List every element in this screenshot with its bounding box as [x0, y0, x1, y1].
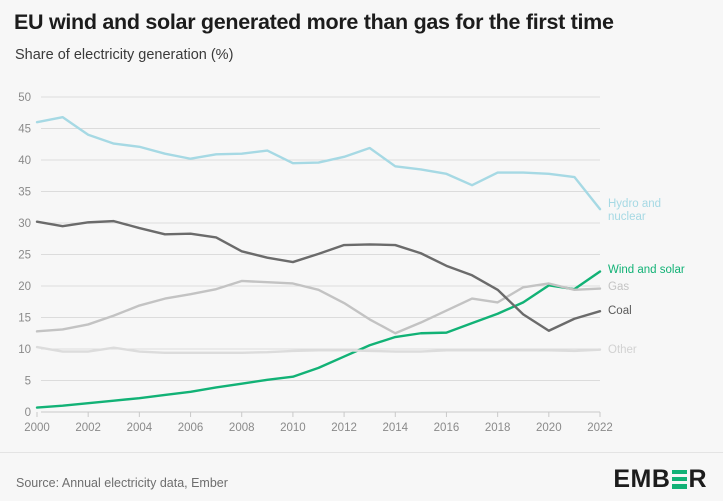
ember-logo-text-after: R — [688, 465, 707, 494]
legend-item-hydro-and-nuclear: Hydro and nuclear — [608, 198, 661, 223]
legend-item-other: Other — [608, 344, 637, 357]
y-axis-tick-labels: 05101520253035404550 — [18, 92, 31, 419]
legend-item-wind-and-solar: Wind and solar — [608, 264, 685, 277]
chart-subtitle: Share of electricity generation (%) — [15, 47, 233, 63]
x-axis-tick-label: 2002 — [75, 422, 101, 434]
ember-logo-text-before: EMB — [613, 465, 670, 494]
source-note: Source: Annual electricity data, Ember — [16, 476, 228, 490]
chart-plot-area: 05101520253035404550 2000200220042006200… — [0, 80, 723, 440]
y-axis-tick-label: 10 — [18, 344, 31, 356]
x-axis-tick-label: 2008 — [229, 422, 255, 434]
footer-divider — [0, 452, 723, 453]
y-axis-tick-label: 15 — [18, 313, 31, 325]
x-axis-tick-label: 2000 — [24, 422, 50, 434]
ember-logo-e-icon — [672, 470, 687, 489]
series-line-other — [37, 347, 600, 353]
series-line-hydro-and-nuclear — [37, 117, 600, 209]
y-axis-tick-label: 0 — [25, 407, 31, 419]
y-axis-tick-label: 30 — [18, 218, 31, 230]
x-axis-tick-label: 2012 — [331, 422, 357, 434]
y-axis-tick-label: 50 — [18, 92, 31, 104]
y-axis-tick-label: 40 — [18, 155, 31, 167]
legend-item-coal: Coal — [608, 305, 632, 318]
ember-logo-text: EMB R — [613, 465, 707, 494]
x-axis-tick-label: 2014 — [382, 422, 408, 434]
x-axis-tick-label: 2022 — [587, 422, 613, 434]
page-title: EU wind and solar generated more than ga… — [14, 10, 614, 35]
x-axis-tick-label: 2006 — [178, 422, 204, 434]
y-axis-tick-label: 45 — [18, 124, 31, 136]
x-axis — [37, 412, 600, 417]
x-axis-tick-label: 2018 — [485, 422, 511, 434]
data-series — [37, 117, 600, 407]
x-axis-tick-labels: 2000200220042006200820102012201420162018… — [24, 422, 613, 434]
chart-page: EU wind and solar generated more than ga… — [0, 0, 723, 501]
line-chart-svg: 05101520253035404550 2000200220042006200… — [0, 80, 723, 440]
x-axis-tick-label: 2020 — [536, 422, 562, 434]
x-axis-tick-label: 2004 — [127, 422, 153, 434]
y-axis-tick-label: 20 — [18, 281, 31, 293]
ember-logo: EMB R — [613, 466, 707, 492]
y-axis-tick-label: 35 — [18, 187, 31, 199]
legend-item-gas: Gas — [608, 281, 629, 294]
x-axis-tick-label: 2010 — [280, 422, 306, 434]
y-axis-tick-label: 5 — [25, 376, 31, 388]
series-line-coal — [37, 221, 600, 331]
y-axis-tick-label: 25 — [18, 250, 31, 262]
x-axis-tick-label: 2016 — [434, 422, 460, 434]
